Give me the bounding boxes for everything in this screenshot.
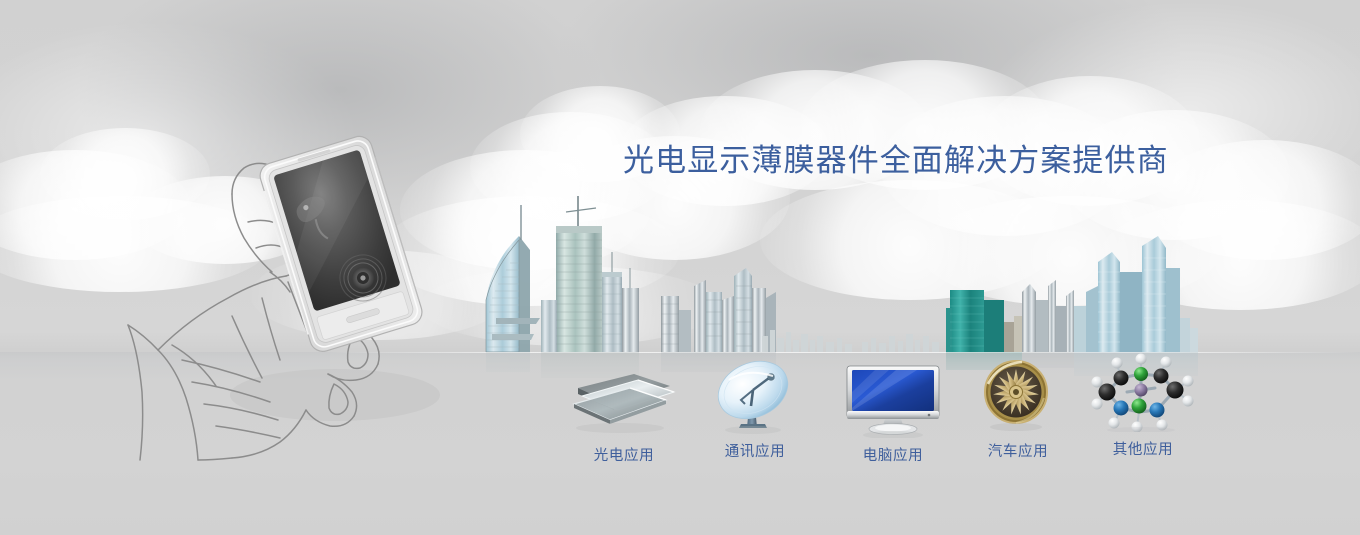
application-label-optoelectronic: 光电应用 — [564, 444, 684, 465]
application-item-computer[interactable]: 电脑应用 — [833, 358, 953, 465]
application-label-computer: 电脑应用 — [833, 444, 953, 465]
hero-banner: 光电显示薄膜器件全面解决方案提供商 — [0, 0, 1360, 535]
application-label-communication: 通讯应用 — [695, 440, 815, 461]
application-item-communication[interactable]: 通讯应用 — [695, 354, 815, 461]
application-label-automotive: 汽车应用 — [958, 440, 1078, 461]
application-item-automotive[interactable]: 汽车应用 — [958, 354, 1078, 461]
satellite-dish-icon — [695, 354, 815, 434]
computer-monitor-icon — [833, 358, 953, 438]
application-item-other[interactable]: 其他应用 — [1083, 352, 1203, 459]
application-label-other: 其他应用 — [1083, 438, 1203, 459]
application-item-optoelectronic[interactable]: 光电应用 — [564, 358, 684, 465]
hand-holding-smartphone-sketch — [120, 130, 480, 490]
alloy-wheel-icon — [958, 354, 1078, 434]
molecule-model-icon — [1083, 352, 1203, 432]
page-title: 光电显示薄膜器件全面解决方案提供商 — [623, 142, 1169, 180]
glass-film-sheets-icon — [564, 358, 684, 438]
